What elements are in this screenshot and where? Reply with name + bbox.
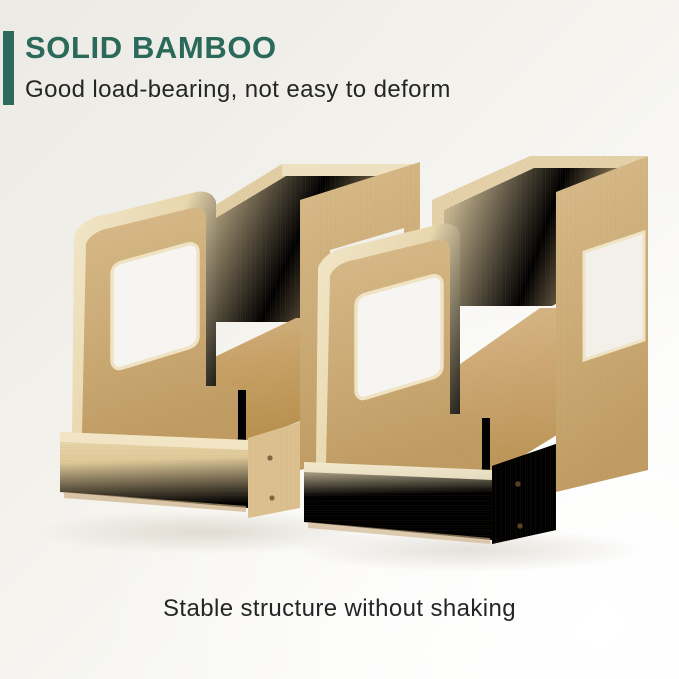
screw-hole bbox=[515, 481, 520, 486]
page-subtitle: Good load-bearing, not easy to deform bbox=[25, 76, 451, 104]
screw-hole bbox=[267, 455, 272, 460]
header: SOLID BAMBOO Good load-bearing, not easy… bbox=[0, 0, 679, 130]
screw-hole bbox=[517, 523, 522, 528]
accent-bar bbox=[3, 31, 14, 105]
left-bin-front-rail bbox=[60, 432, 248, 512]
left-bin-corner-post bbox=[248, 422, 300, 518]
product-marketing-image: SOLID BAMBOO Good load-bearing, not easy… bbox=[0, 0, 679, 679]
caption-text: Stable structure without shaking bbox=[0, 595, 679, 623]
screw-hole bbox=[269, 495, 274, 500]
product-stage bbox=[0, 140, 679, 580]
right-bin-far-side-panel bbox=[556, 156, 648, 492]
page-title: SOLID BAMBOO bbox=[25, 30, 277, 66]
